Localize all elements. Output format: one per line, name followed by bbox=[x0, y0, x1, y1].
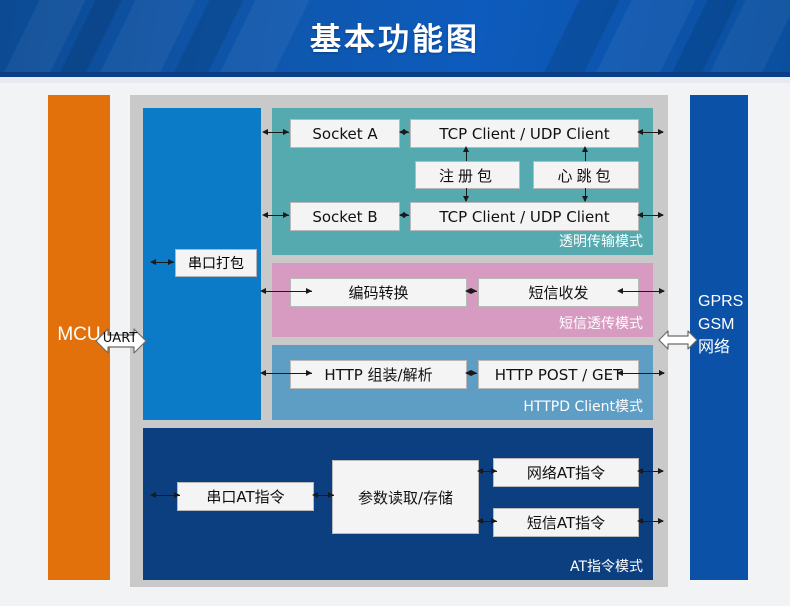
arrowhead-socketa-left bbox=[262, 129, 268, 135]
arrowhead-netat-net-left bbox=[637, 468, 643, 474]
arrowhead-param-right bbox=[328, 492, 334, 498]
network-column: GPRS GSM 网络 bbox=[690, 95, 748, 580]
arrowhead-post-net-right bbox=[659, 370, 665, 376]
arrowhead-smsat-right bbox=[491, 518, 497, 524]
http-assemble-parse-box: HTTP 组装/解析 bbox=[290, 360, 467, 389]
arrowhead-tcpa-net-left bbox=[637, 129, 643, 135]
arrowhead-http-right bbox=[306, 370, 312, 376]
tcp-udp-client-a-box: TCP Client / UDP Client bbox=[410, 119, 639, 148]
arrowhead-packing-right bbox=[168, 259, 174, 265]
network-label-line1: GPRS bbox=[698, 290, 748, 313]
arrowhead-heartbeat-down bbox=[582, 196, 588, 202]
arrowhead-post-right bbox=[471, 370, 477, 376]
arrowhead-smsat-left bbox=[477, 518, 483, 524]
panel-label-transparent: 透明传输模式 bbox=[559, 231, 643, 251]
arrowhead-http-left bbox=[260, 370, 266, 376]
header-strip bbox=[0, 77, 790, 83]
arrowhead-tcpa-right bbox=[403, 129, 409, 135]
arrowhead-netat-net-right bbox=[658, 468, 664, 474]
encoding-convert-box: 编码转换 bbox=[290, 278, 467, 307]
http-post-get-box: HTTP POST / GET bbox=[478, 360, 639, 389]
arrowhead-serialat-right bbox=[174, 492, 180, 498]
network-label: GPRS GSM 网络 bbox=[698, 290, 748, 359]
panel-label-at: AT指令模式 bbox=[570, 556, 643, 576]
network-at-command-box: 网络AT指令 bbox=[493, 458, 639, 487]
sms-at-command-box: 短信AT指令 bbox=[493, 508, 639, 537]
socket-a-box: Socket A bbox=[290, 119, 400, 148]
arrowhead-post-net-left bbox=[617, 370, 623, 376]
arrowhead-tcpa-net-right bbox=[658, 129, 664, 135]
arrowhead-register-down bbox=[463, 196, 469, 202]
network-label-line2: GSM bbox=[698, 313, 748, 336]
serial-at-command-box: 串口AT指令 bbox=[177, 482, 314, 511]
arrowhead-socketa-right bbox=[283, 129, 289, 135]
arrowhead-smsat-net-left bbox=[637, 518, 643, 524]
arrowhead-sms-right bbox=[471, 288, 477, 294]
arrowhead-smsat-net-right bbox=[658, 518, 664, 524]
connector-post-net bbox=[620, 373, 664, 374]
arrowhead-tcpb-net-right bbox=[658, 212, 664, 218]
network-label-line3: 网络 bbox=[698, 336, 748, 359]
panel-label-httpd: HTTPD Client模式 bbox=[523, 396, 643, 416]
serial-packing-box: 串口打包 bbox=[175, 249, 257, 277]
arrowhead-heartbeat-up bbox=[582, 146, 588, 152]
arrowhead-serialat-left bbox=[150, 492, 156, 498]
heartbeat-packet-box: 心跳包 bbox=[533, 161, 639, 189]
connector-serial-http bbox=[262, 373, 312, 374]
register-packet-box: 注册包 bbox=[415, 161, 520, 189]
arrowhead-sms-net-right bbox=[659, 288, 665, 294]
arrowhead-tcpb-right bbox=[403, 212, 409, 218]
socket-b-box: Socket B bbox=[290, 202, 400, 231]
arrowhead-socketb-left bbox=[262, 212, 268, 218]
arrowhead-socketb-right bbox=[283, 212, 289, 218]
arrowhead-netat-right bbox=[491, 468, 497, 474]
arrowhead-sms-net-left bbox=[617, 288, 623, 294]
panel-label-sms: 短信透传模式 bbox=[559, 313, 643, 333]
arrowhead-param-left bbox=[312, 492, 318, 498]
arrowhead-tcpb-net-left bbox=[637, 212, 643, 218]
arrowhead-encoding-right bbox=[306, 288, 312, 294]
network-bus-arrow bbox=[658, 326, 698, 354]
tcp-udp-client-b-box: TCP Client / UDP Client bbox=[410, 202, 639, 231]
arrowhead-register-up bbox=[463, 146, 469, 152]
arrowhead-packing-left bbox=[150, 259, 156, 265]
uart-label: UART bbox=[100, 331, 140, 346]
sms-send-receive-box: 短信收发 bbox=[478, 278, 639, 307]
param-read-store-box: 参数读取/存储 bbox=[332, 460, 479, 534]
arrowhead-encoding-left bbox=[260, 288, 266, 294]
arrowhead-netat-left bbox=[477, 468, 483, 474]
connector-sms-net bbox=[620, 291, 664, 292]
page-title: 基本功能图 bbox=[0, 0, 790, 72]
connector-serial-encoding bbox=[262, 291, 312, 292]
